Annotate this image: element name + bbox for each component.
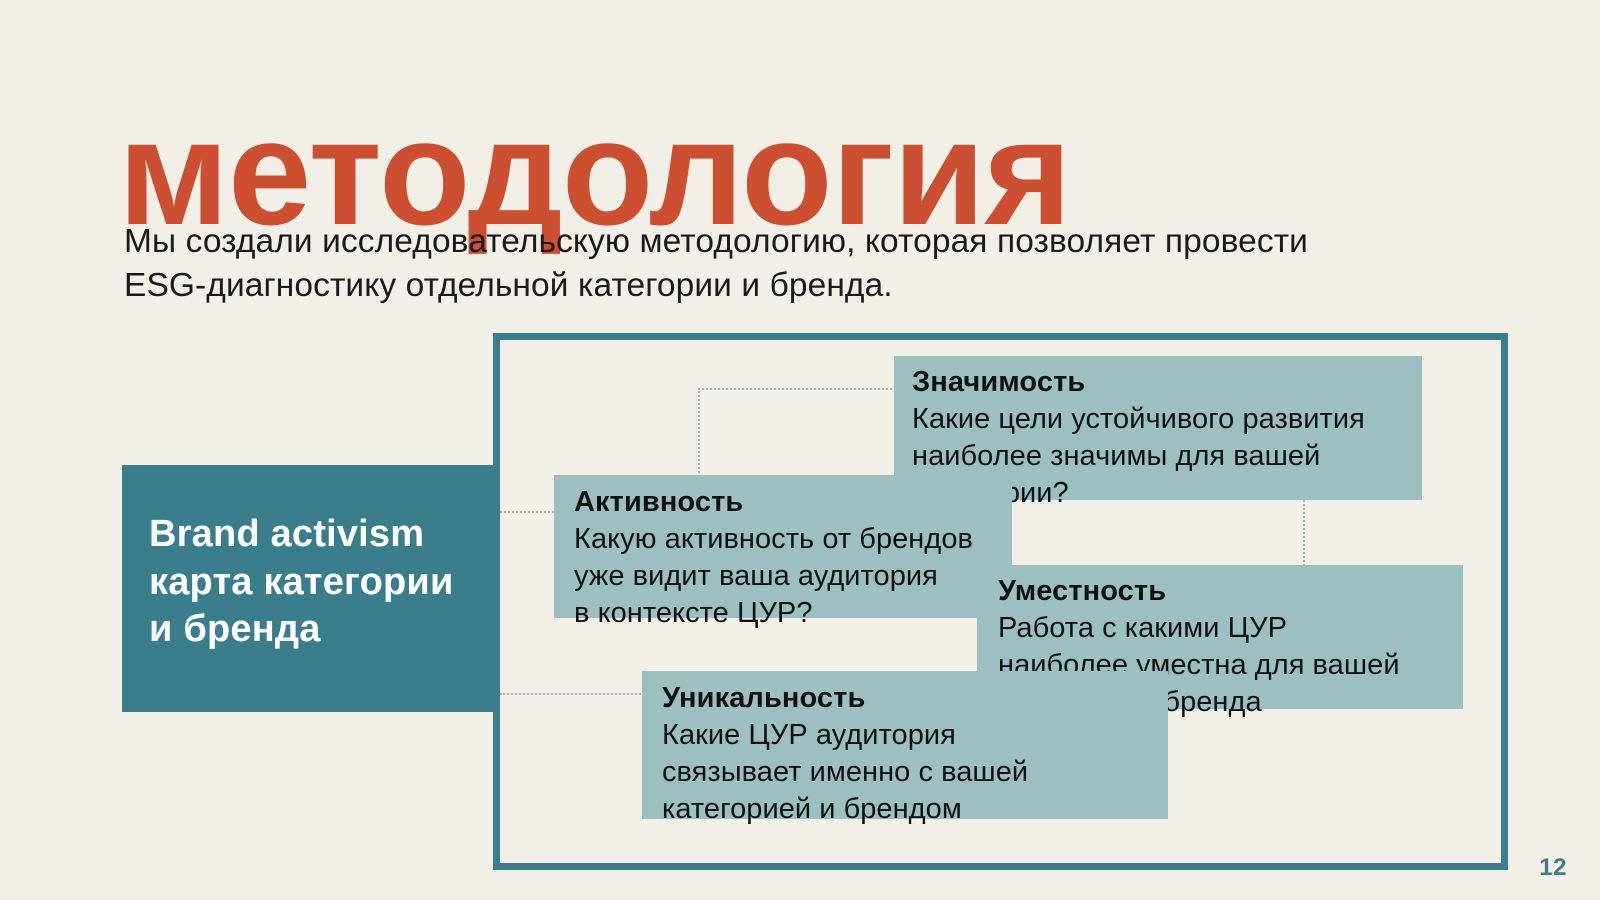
node-body-activity: Какую активность от брендов уже видит ва… [574, 521, 996, 632]
node-body-uniqueness: Какие ЦУР аудитория связывает именно с в… [662, 717, 1152, 828]
page-number: 12 [1539, 854, 1567, 882]
node-title-significance: Значимость [912, 366, 1406, 400]
connector-root-to-activity [500, 511, 562, 513]
diagram-root-label: Brand activism карта категории и бренда [149, 511, 486, 654]
node-title-relevance: Уместность [998, 575, 1447, 609]
slide: методология Мы создали исследовательскую… [0, 0, 1600, 900]
connector-root-to-uniqueness [500, 693, 648, 695]
connector-top-vertical [698, 388, 700, 484]
diagram-node-uniqueness: Уникальность Какие ЦУР аудитория связыва… [642, 671, 1168, 819]
node-title-activity: Активность [574, 486, 996, 520]
slide-subtitle: Мы создали исследовательскую методологию… [124, 220, 1384, 308]
diagram-node-activity: Активность Какую активность от брендов у… [554, 475, 1012, 618]
connector-top-horizontal [698, 388, 920, 390]
node-title-uniqueness: Уникальность [662, 682, 1152, 716]
diagram-root-node: Brand activism карта категории и бренда [122, 465, 500, 712]
